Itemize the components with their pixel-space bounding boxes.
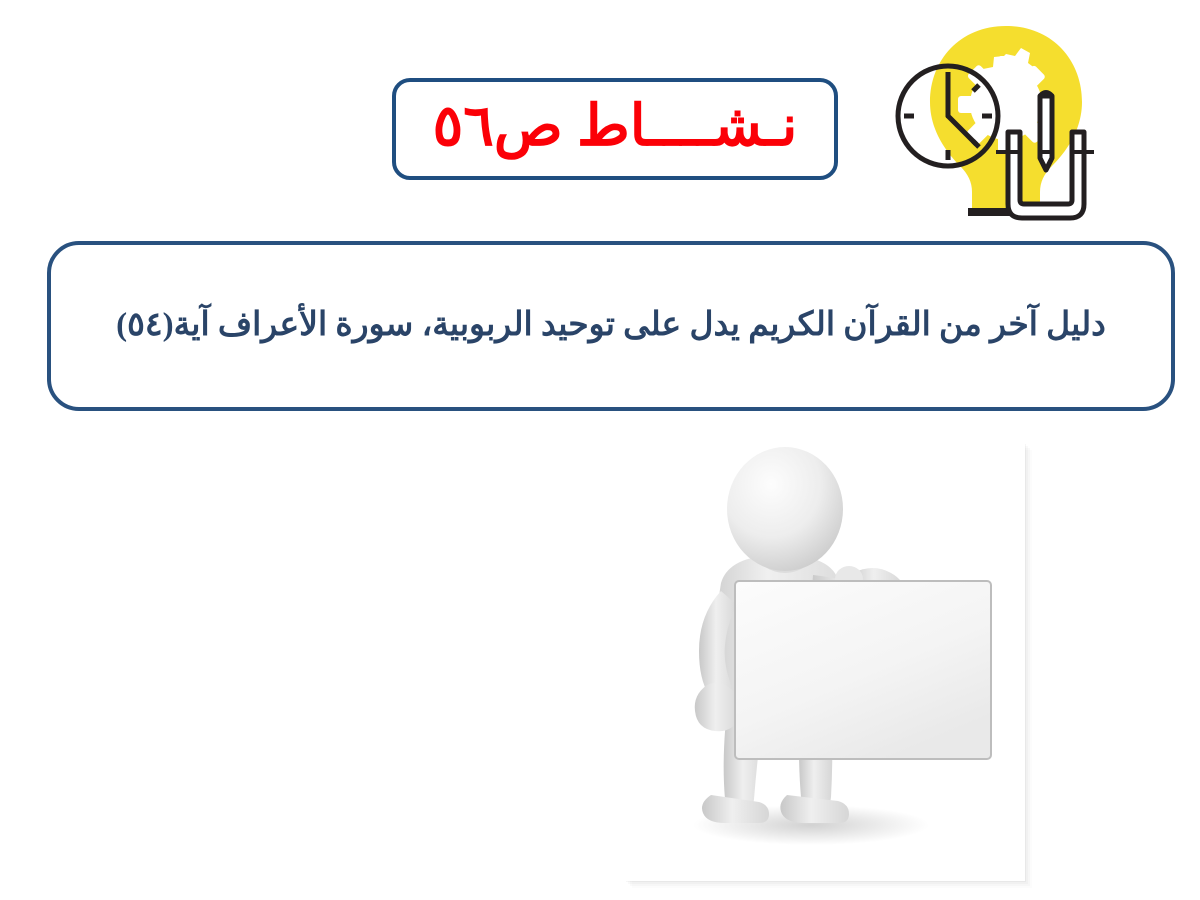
slide-canvas: نـشــــاط ص٥٦ [0, 0, 1200, 900]
question-text: دليل آخر من القرآن الكريم يدل على توحيد … [109, 301, 1113, 351]
activity-title-label: نـشــــاط ص٥٦ [433, 98, 798, 155]
pencil-glyph [1040, 93, 1052, 171]
figure-holding-blank-sign [625, 443, 1025, 881]
clock-glyph [898, 66, 998, 166]
lightbulb-gear-clock-pencil-icon [888, 18, 1120, 234]
question-box: دليل آخر من القرآن الكريم يدل على توحيد … [47, 241, 1175, 411]
activity-title-box: نـشــــاط ص٥٦ [392, 78, 838, 180]
